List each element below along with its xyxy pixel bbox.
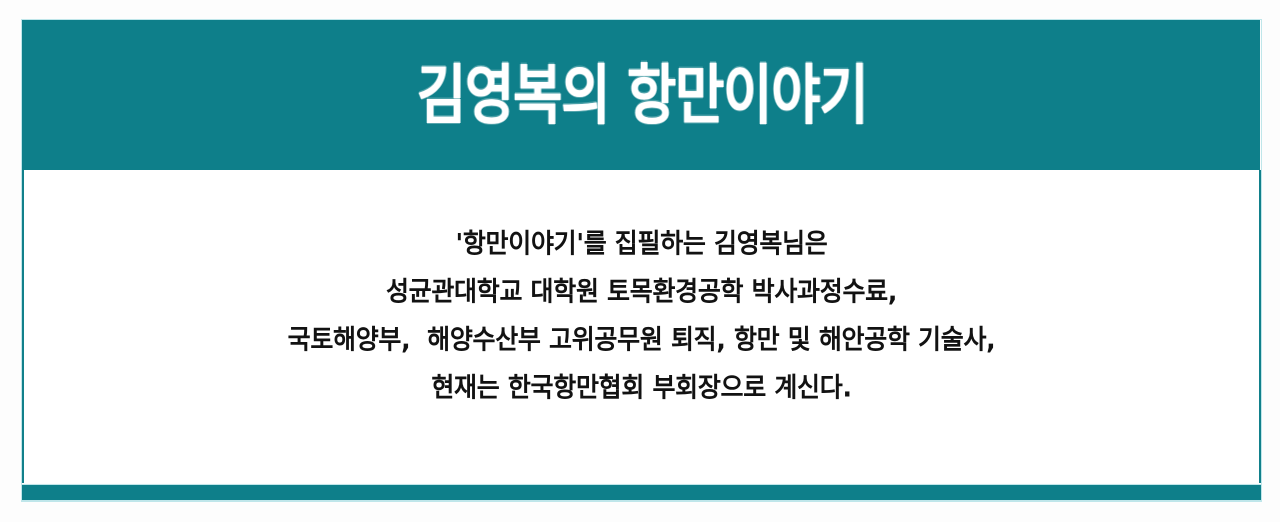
bio-line-3: 국토해양부, 해양수산부 고위공무원 퇴직, 항만 및 해안공학 기술사,: [288, 315, 996, 366]
banner-footer-bar: [21, 484, 1262, 501]
banner-title: 김영복의 항만이야기: [413, 63, 868, 128]
bio-line-2: 성균관대학교 대학원 토목환경공학 박사과정수료,: [386, 267, 897, 318]
banner-body: '항만이야기'를 집필하는 김영복님은 성균관대학교 대학원 토목환경공학 박사…: [22, 170, 1261, 483]
banner-header: 김영복의 항만이야기: [21, 20, 1260, 170]
banner-card: 김영복의 항만이야기 '항만이야기'를 집필하는 김영복님은 성균관대학교 대학…: [21, 19, 1262, 502]
bio-line-4: 현재는 한국항만협회 부회장으로 계신다.: [431, 363, 851, 414]
bio-line-1: '항만이야기'를 집필하는 김영복님은: [455, 219, 827, 270]
